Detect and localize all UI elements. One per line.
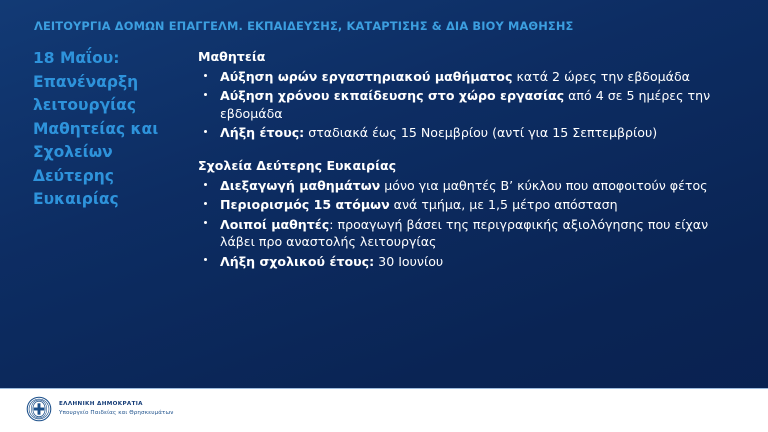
list-item: Λήξη σχολικού έτους: 30 Ιουνίου — [198, 253, 718, 271]
bullet-emphasis: Αύξηση ωρών εργαστηριακού μαθήματος — [220, 69, 512, 84]
bullet-dot-icon — [204, 258, 207, 261]
footer-logo: ΕΛΛΗΝΙΚΗ ΔΗΜΟΚΡΑΤΙΑ Υπουργείο Παιδείας κ… — [26, 396, 173, 422]
bullet-dot-icon — [204, 93, 207, 96]
list-item: Αύξηση ωρών εργαστηριακού μαθήματος κατά… — [198, 68, 718, 86]
bullet-dot-icon — [204, 130, 207, 133]
section-second-chance-schools: Σχολεία Δεύτερης Ευκαιρίας Διεξαγωγή μαθ… — [198, 157, 718, 270]
section-heading: Μαθητεία — [198, 48, 718, 65]
list-item: Λοιποί μαθητές: προαγωγή βάσει της περιγ… — [198, 216, 718, 252]
footer-organization: ΕΛΛΗΝΙΚΗ ΔΗΜΟΚΡΑΤΙΑ — [59, 401, 173, 408]
bullet-emphasis: Περιορισμός 15 ατόμων — [220, 197, 390, 212]
bullet-emphasis: Διεξαγωγή μαθημάτων — [220, 178, 380, 193]
bullet-list: Αύξηση ωρών εργαστηριακού μαθήματος κατά… — [198, 68, 718, 142]
slide-title: ΛΕΙΤΟΥΡΓΙΑ ΔΟΜΩΝ ΕΠΑΓΓΕΛΜ. ΕΚΠΑΙΔΕΥΣΗΣ, … — [34, 19, 734, 33]
section-apprenticeship: Μαθητεία Αύξηση ωρών εργαστηριακού μαθήμ… — [198, 48, 718, 142]
footer-text: ΕΛΛΗΝΙΚΗ ΔΗΜΟΚΡΑΤΙΑ Υπουργείο Παιδείας κ… — [59, 401, 173, 417]
bullet-text: σταδιακά έως 15 Νοεμβρίου (αντί για 15 Σ… — [304, 125, 657, 140]
bullet-text: κατά 2 ώρες την εβδομάδα — [512, 69, 690, 84]
list-item: Διεξαγωγή μαθημάτων μόνο για μαθητές Β’ … — [198, 177, 718, 195]
bullet-dot-icon — [204, 74, 207, 77]
footer-ministry: Υπουργείο Παιδείας και Θρησκευμάτων — [59, 410, 173, 417]
list-item: Αύξηση χρόνου εκπαίδευσης στο χώρο εργασ… — [198, 87, 718, 123]
bullet-text: ανά τμήμα, με 1,5 μέτρο απόσταση — [390, 197, 618, 212]
list-item: Λήξη έτους: σταδιακά έως 15 Νοεμβρίου (α… — [198, 124, 718, 142]
bullet-dot-icon — [204, 183, 207, 186]
bullet-text: 30 Ιουνίου — [374, 254, 443, 269]
slide-sidebar-heading: 18 Μαΐου: Επανέναρξη λειτουργίας Μαθητεί… — [33, 47, 193, 212]
bullet-emphasis: Λήξη έτους: — [220, 125, 304, 140]
presentation-slide: ΛΕΙΤΟΥΡΓΙΑ ΔΟΜΩΝ ΕΠΑΓΓΕΛΜ. ΕΚΠΑΙΔΕΥΣΗΣ, … — [0, 0, 768, 432]
bullet-text: μόνο για μαθητές Β’ κύκλου που αποφοιτού… — [380, 178, 707, 193]
section-heading: Σχολεία Δεύτερης Ευκαιρίας — [198, 157, 718, 174]
slide-content: Μαθητεία Αύξηση ωρών εργαστηριακού μαθήμ… — [198, 48, 718, 272]
bullet-emphasis: Αύξηση χρόνου εκπαίδευσης στο χώρο εργασ… — [220, 88, 564, 103]
bullet-list: Διεξαγωγή μαθημάτων μόνο για μαθητές Β’ … — [198, 177, 718, 270]
list-item: Περιορισμός 15 ατόμων ανά τμήμα, με 1,5 … — [198, 196, 718, 214]
bullet-emphasis: Λήξη σχολικού έτους: — [220, 254, 374, 269]
bullet-dot-icon — [204, 221, 207, 224]
bullet-emphasis: Λοιποί μαθητές — [220, 217, 329, 232]
slide-footer: ΕΛΛΗΝΙΚΗ ΔΗΜΟΚΡΑΤΙΑ Υπουργείο Παιδείας κ… — [0, 388, 768, 432]
hellenic-republic-emblem-icon — [26, 396, 52, 422]
bullet-dot-icon — [204, 202, 207, 205]
